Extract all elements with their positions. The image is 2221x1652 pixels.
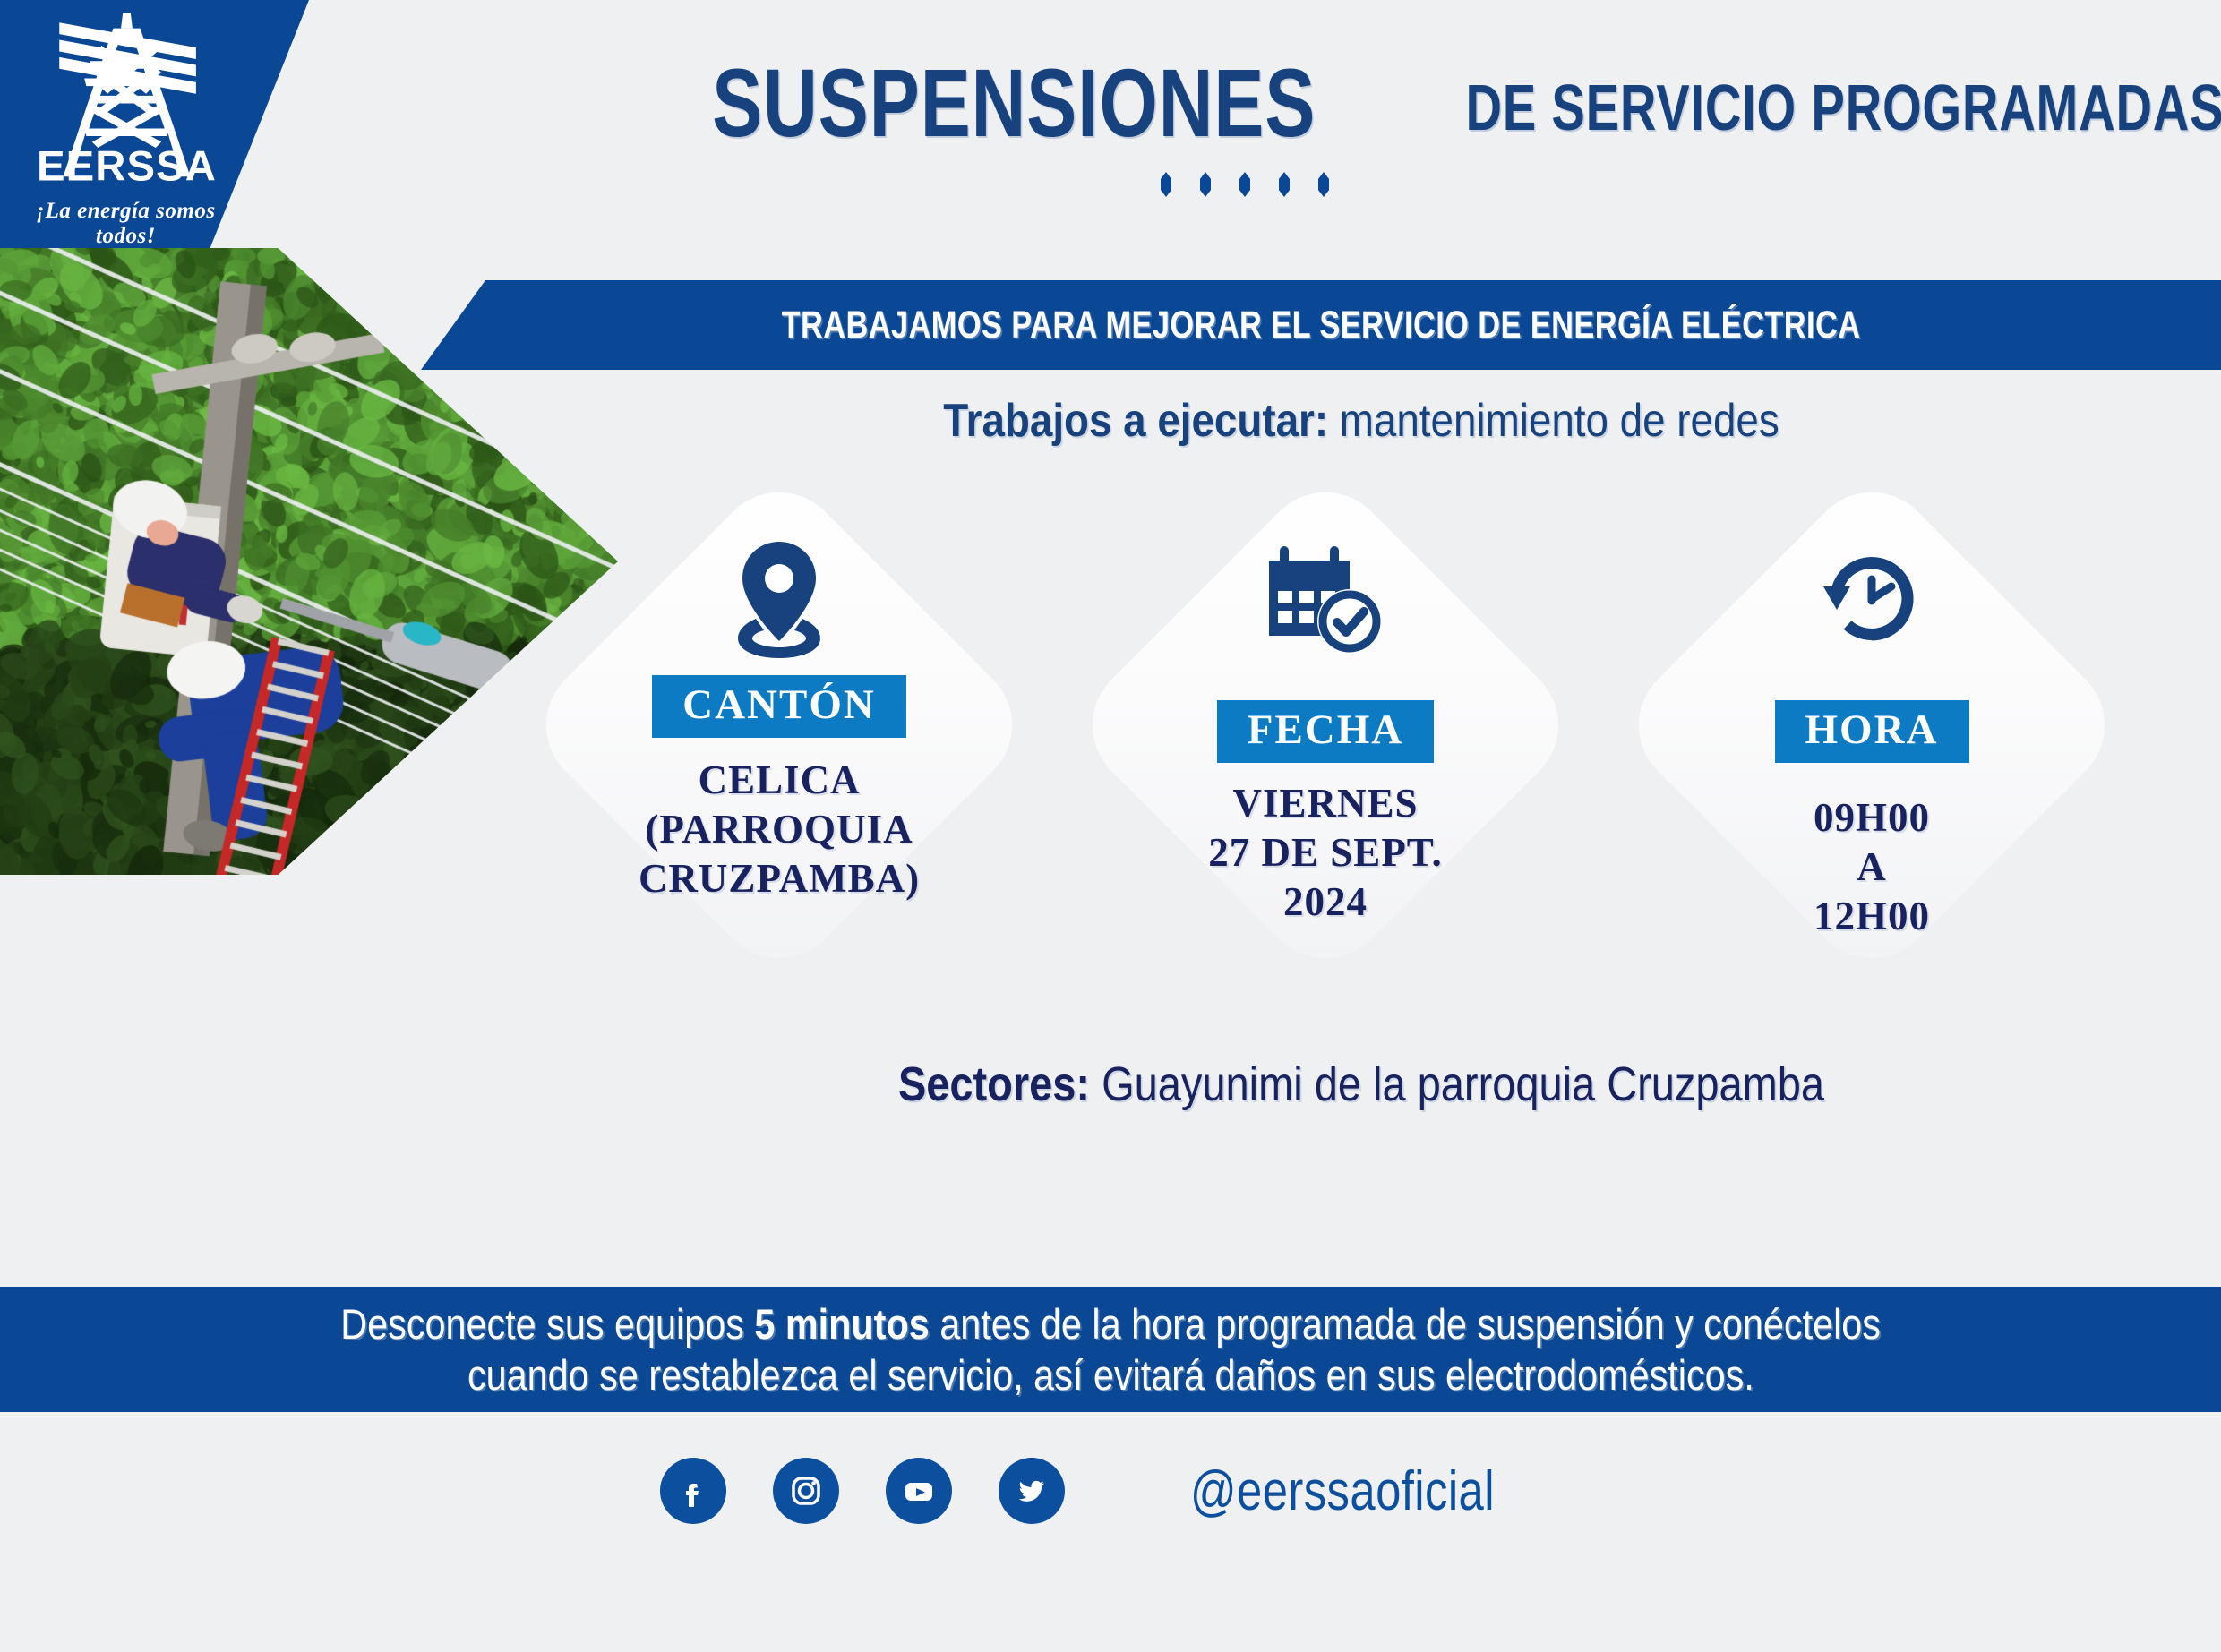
diamond-dot-icon [1161, 172, 1171, 197]
svg-text:EERSSA: EERSSA [37, 143, 217, 191]
info-card-hora: HORA 09H00 A 12H00 [1621, 519, 2122, 1048]
decorative-dot-row [0, 172, 2221, 197]
clock-restore-icon [1816, 532, 1927, 666]
diamond-dot-icon [1239, 172, 1250, 197]
youtube-icon[interactable] [886, 1458, 952, 1524]
work-value: mantenimiento de redes [1328, 395, 1779, 447]
eerssa-tower-logo-icon: EERSSA [30, 7, 223, 200]
card-value-hora: 09H00 A 12H00 [1814, 793, 1930, 941]
sectors-label: Sectores: [898, 1057, 1090, 1111]
instagram-icon[interactable] [773, 1458, 839, 1524]
diamond-dot-icon [1279, 172, 1290, 197]
sectors-value: Guayunimi de la parroquia Cruzpamba [1090, 1057, 1824, 1111]
info-card-canton: CANTÓN CELICA (PARROQUIA CRUZPAMBA) [528, 519, 1030, 1048]
sectors-line: Sectores: Guayunimi de la parroquia Cruz… [645, 1057, 2079, 1112]
info-card-fecha: FECHA VIERNES 27 DE SEPT. 2024 [1075, 519, 1576, 1048]
page-title-rest: DE SERVICIO PROGRAMADAS [1465, 72, 2221, 145]
notice-line-1: Desconecte sus equipos 5 minutos antes d… [340, 1298, 1881, 1349]
notice-bar: Desconecte sus equipos 5 minutos antes d… [0, 1287, 2221, 1412]
location-pin-icon [726, 532, 832, 666]
card-value-canton: CELICA (PARROQUIA CRUZPAMBA) [639, 756, 920, 903]
page-title-strong: SUSPENSIONES [712, 47, 1316, 158]
card-badge-fecha: FECHA [1217, 700, 1435, 763]
work-to-execute-line: Trabajos a ejecutar: mantenimiento de re… [668, 394, 2055, 448]
diamond-dot-icon [1200, 172, 1211, 197]
diamond-dot-icon [1318, 172, 1329, 197]
social-row [660, 1458, 1065, 1524]
banner-text: TRABAJAMOS PARA MEJORAR EL SERVICIO DE E… [782, 304, 1861, 347]
card-badge-hora: HORA [1775, 700, 1969, 763]
facebook-icon[interactable] [660, 1458, 726, 1524]
notice-part-c: antes de la hora programada de suspensió… [930, 1300, 1881, 1348]
info-cards: CANTÓN CELICA (PARROQUIA CRUZPAMBA) [528, 519, 2131, 1048]
notice-part-a: Desconecte sus equipos [340, 1300, 754, 1348]
social-handle: @eerssaoficial [1190, 1459, 1495, 1523]
twitter-icon[interactable] [999, 1458, 1065, 1524]
card-badge-canton: CANTÓN [652, 675, 906, 738]
card-value-fecha: VIERNES 27 DE SEPT. 2024 [1208, 779, 1442, 927]
work-label: Trabajos a ejecutar: [943, 395, 1328, 447]
footer: @eerssaoficial [0, 1433, 2221, 1549]
notice-part-bold: 5 minutos [754, 1300, 929, 1348]
banner-strip: TRABAJAMOS PARA MEJORAR EL SERVICIO DE E… [421, 280, 2221, 370]
page-title: SUSPENSIONES DE SERVICIO PROGRAMADAS [627, 47, 2149, 158]
logo-slogan: ¡La energía somos todos! [16, 199, 236, 249]
logo-block: EERSSA ¡La energía somos todos! [0, 0, 309, 248]
calendar-check-icon [1267, 532, 1384, 666]
notice-line-2: cuando se restablezca el servicio, así e… [467, 1349, 1754, 1400]
